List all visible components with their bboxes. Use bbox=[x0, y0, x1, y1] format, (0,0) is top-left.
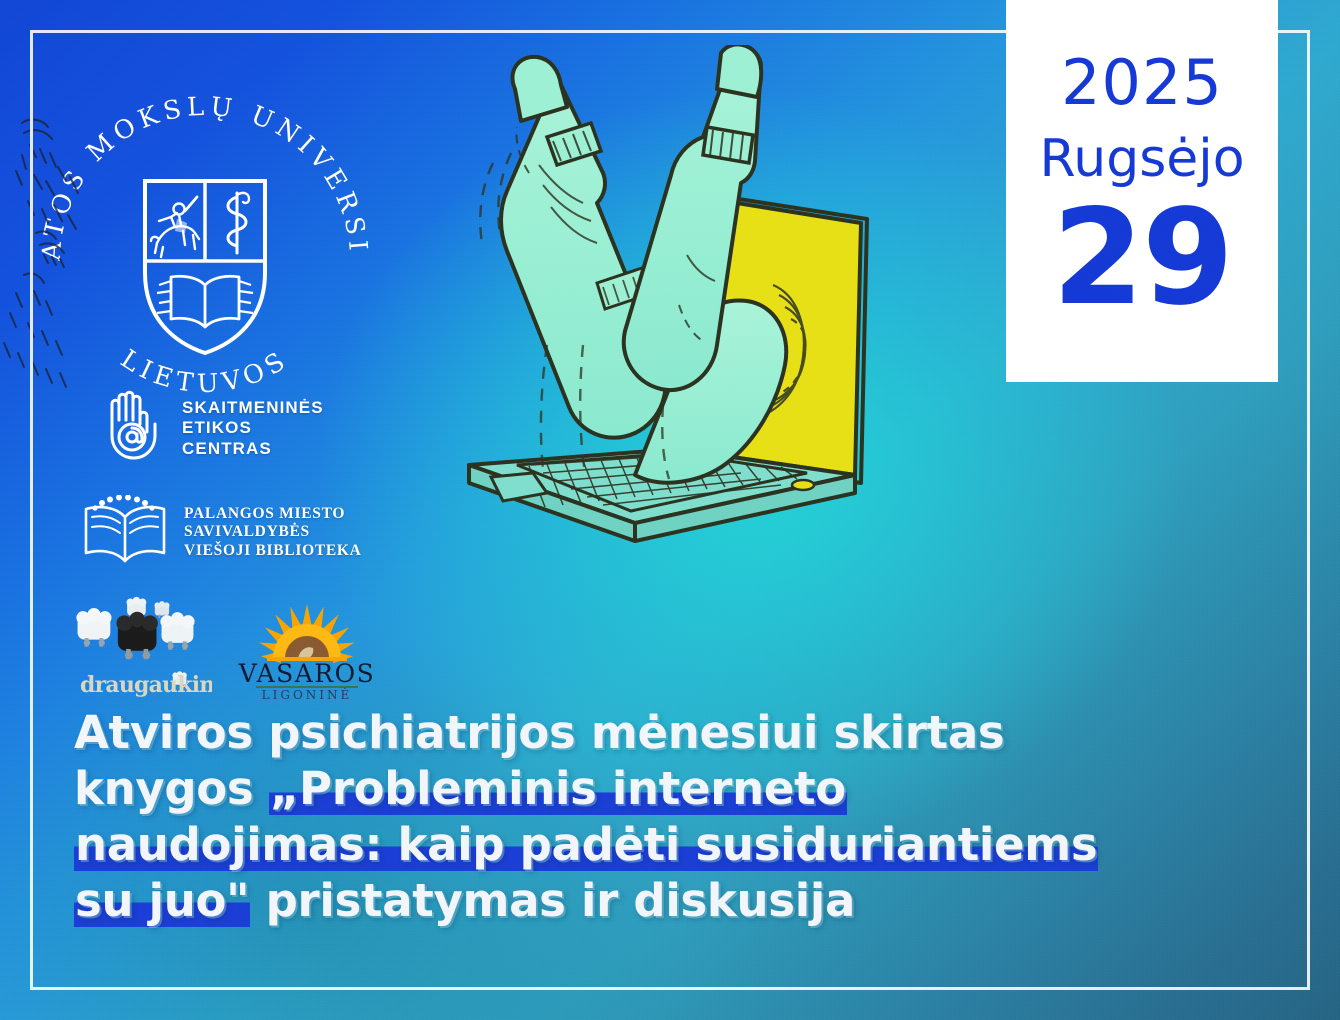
title-line-2: knygos „Probleminis interneto bbox=[74, 762, 1274, 816]
partner-logo-palanga-library: PALANGOS MIESTO SAVIVALDYBĖS VIEŠOJI BIB… bbox=[80, 495, 362, 570]
date-day: 29 bbox=[1052, 198, 1232, 319]
title-line-4: su juo" pristatymas ir diskusija bbox=[74, 874, 1274, 928]
date-year: 2025 bbox=[1061, 54, 1223, 113]
poster-canvas: SVEIKATOS MOKSLŲ UNIVERSITETAS LIETUVOS bbox=[0, 0, 1340, 1020]
title-line-2-plain: knygos bbox=[74, 762, 269, 815]
title-line-2-highlight: „Probleminis interneto bbox=[269, 762, 847, 815]
partner-logo-draugaukim: draugaukim bbox=[72, 596, 212, 704]
vasaros-wordmark: VASAROS bbox=[238, 659, 376, 688]
ligonine-subwordmark: LIGONINĖ bbox=[262, 687, 353, 702]
person-diving-into-laptop-illustration bbox=[455, 45, 885, 735]
date-box: 2025 Rugsėjo 29 bbox=[1006, 0, 1278, 382]
partner-logo-digital-ethics-center: SKAITMENINĖS ETIKOS CENTRAS bbox=[100, 390, 324, 467]
dec-line-3: CENTRAS bbox=[182, 439, 324, 459]
sketch-scribble-decoration bbox=[0, 105, 130, 405]
partner-logo-vasaros-ligonine: VASAROS LIGONINĖ bbox=[232, 596, 382, 702]
poster-title: Atviros psichiatrijos mėnesiui skirtas k… bbox=[74, 706, 1274, 930]
title-line-4-highlight: su juo" bbox=[74, 874, 250, 927]
sunflower-sun-icon bbox=[258, 604, 357, 663]
title-line-3: naudojimas: kaip padėti susiduriantiems bbox=[74, 818, 1274, 872]
lib-line-1: PALANGOS MIESTO bbox=[184, 505, 362, 523]
title-line-3-highlight: naudojimas: kaip padėti susiduriantiems bbox=[74, 818, 1098, 871]
title-line-4-plain: pristatymas ir diskusija bbox=[250, 874, 855, 927]
digital-ethics-center-label: SKAITMENINĖS ETIKOS CENTRAS bbox=[182, 398, 324, 458]
draugaukim-wordmark: draugaukim bbox=[80, 672, 212, 698]
open-book-icon bbox=[80, 495, 170, 570]
dec-line-2: ETIKOS bbox=[182, 418, 324, 438]
dec-line-1: SKAITMENINĖS bbox=[182, 398, 324, 418]
lib-line-2: SAVIVALDYBĖS bbox=[184, 523, 362, 541]
palanga-library-label: PALANGOS MIESTO SAVIVALDYBĖS VIEŠOJI BIB… bbox=[184, 505, 362, 560]
title-line-1-text: Atviros psichiatrijos mėnesiui skirtas bbox=[74, 706, 1004, 759]
title-line-1: Atviros psichiatrijos mėnesiui skirtas bbox=[74, 706, 1274, 760]
lib-line-3: VIEŠOJI BIBLIOTEKA bbox=[184, 542, 362, 560]
hand-at-sign-icon bbox=[100, 390, 168, 467]
